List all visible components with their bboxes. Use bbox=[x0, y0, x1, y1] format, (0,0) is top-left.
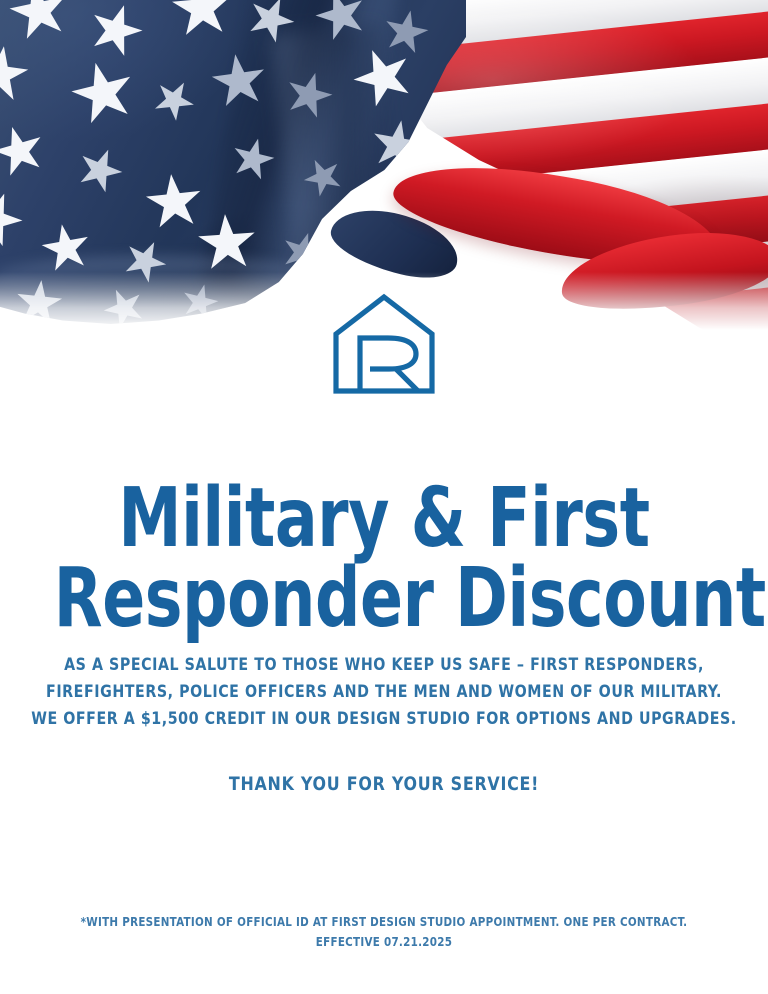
brand-logo bbox=[0, 292, 768, 396]
disclaimer: *WITH PRESENTATION OF OFFICIAL ID AT FIR… bbox=[31, 912, 738, 952]
flag-star bbox=[0, 184, 30, 253]
flag-hero-image bbox=[0, 0, 768, 330]
house-r-icon bbox=[330, 292, 438, 396]
flag-star bbox=[71, 141, 128, 198]
page-title: Military & First Responder Discount bbox=[54, 479, 714, 640]
offer-description: AS A SPECIAL SALUTE TO THOSE WHO KEEP US… bbox=[27, 652, 741, 733]
flag-star bbox=[65, 55, 140, 130]
flag-star bbox=[147, 73, 202, 128]
flag-star bbox=[143, 171, 205, 233]
flag-star bbox=[83, 0, 149, 63]
flag-star bbox=[169, 0, 234, 41]
flyer-page: Military & First Responder Discount AS A… bbox=[0, 0, 768, 994]
headline-line-1: Military & First bbox=[54, 479, 714, 559]
flag-star bbox=[0, 120, 50, 182]
flag-star bbox=[0, 42, 32, 105]
flag-star bbox=[5, 0, 74, 45]
offer-line-1: AS A SPECIAL SALUTE TO THOSE WHO KEEP US… bbox=[27, 652, 741, 679]
offer-line-3: WE OFFER A $1,500 CREDIT IN OUR DESIGN S… bbox=[27, 706, 741, 733]
disclaimer-line-1: *WITH PRESENTATION OF OFFICIAL ID AT FIR… bbox=[31, 912, 738, 932]
headline-line-2: Responder Discount bbox=[54, 559, 714, 639]
thank-you-message: THANK YOU FOR YOUR SERVICE! bbox=[27, 773, 741, 795]
offer-line-2: FIREFIGHTERS, POLICE OFFICERS AND THE ME… bbox=[27, 679, 741, 706]
disclaimer-line-2: EFFECTIVE 07.21.2025 bbox=[31, 932, 738, 952]
